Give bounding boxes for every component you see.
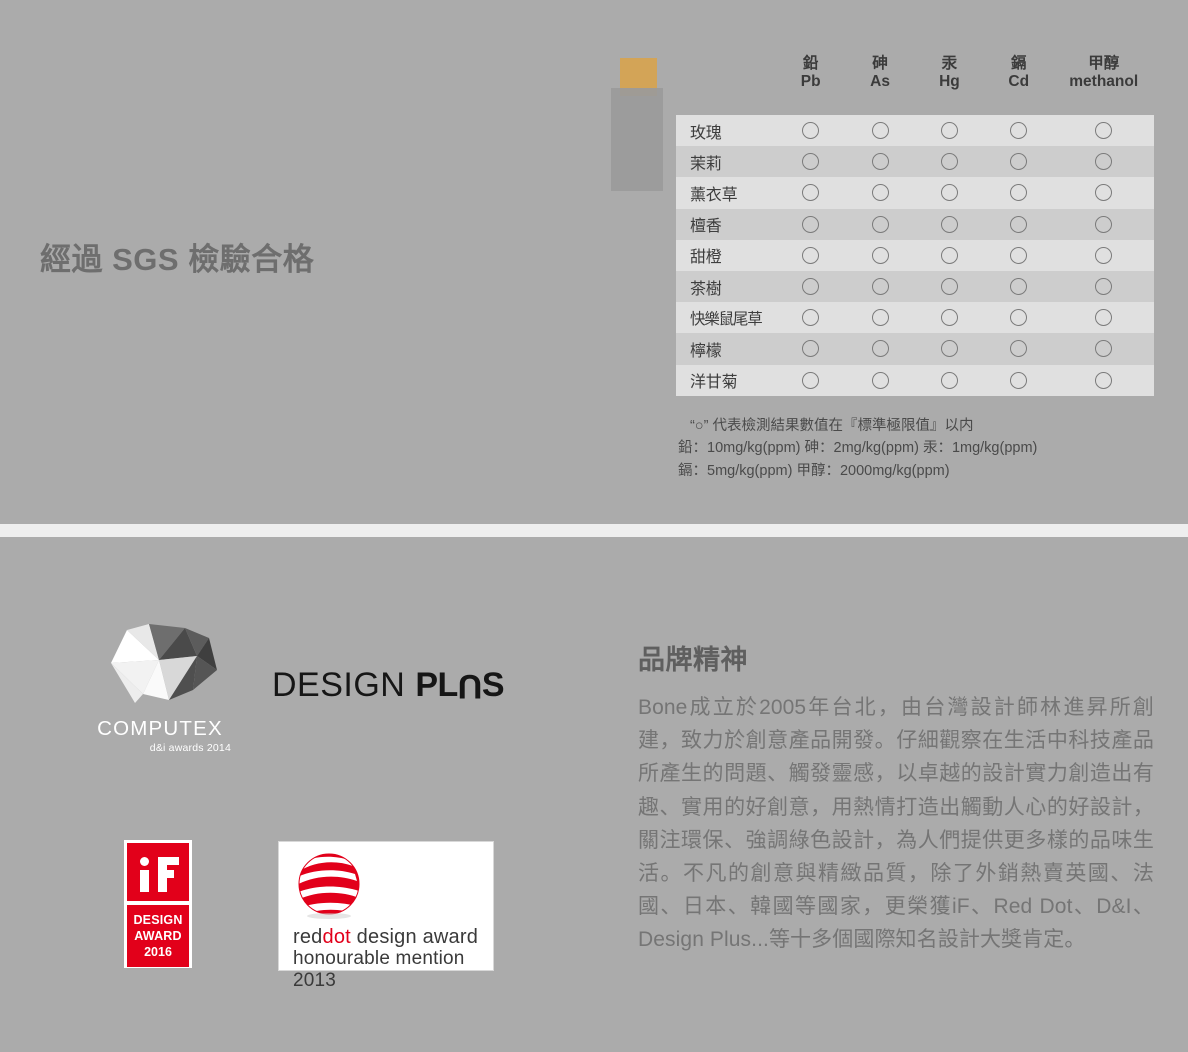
reddot-word-red: red [293, 926, 323, 948]
pass-circle-icon [1010, 309, 1027, 326]
brand-spirit-title: 品牌精神 [638, 638, 1154, 677]
if-design-award-badge: DESIGN AWARD 2016 [124, 840, 192, 968]
reddot-sphere-icon [297, 852, 361, 920]
table-header-row: 鉛 Pb 砷 As 汞 Hg 鎘 Cd 甲醇 methanol [676, 55, 1154, 115]
column-header-hg-en: Hg [915, 73, 984, 91]
result-cell [845, 216, 914, 233]
result-cell [984, 153, 1053, 170]
table-footnote: “○” 代表檢測結果數值在『標準極限值』以内 鉛：10mg/kg(ppm) 砷：… [678, 415, 1158, 482]
result-cell [845, 247, 914, 264]
if-i-dot [140, 857, 149, 866]
row-label: 茉莉 [676, 150, 776, 174]
brand-spirit-body: Bone成立於2005年台北，由台灣設計師林進昇所創建，致力於創意產品開發。仔細… [638, 691, 1154, 956]
pass-circle-icon [941, 340, 958, 357]
product-bottle-image [611, 58, 663, 191]
column-header-pb-cn: 鉛 [776, 55, 845, 73]
table-row: 檸檬 [676, 333, 1154, 364]
row-label: 茶樹 [676, 275, 776, 299]
column-header-as: 砷 As [845, 55, 914, 92]
column-header-methanol: 甲醇 methanol [1053, 55, 1154, 92]
result-cell [915, 309, 984, 326]
result-cell [915, 278, 984, 295]
pass-circle-icon [1095, 216, 1112, 233]
row-label: 甜橙 [676, 243, 776, 267]
pass-circle-icon [1010, 247, 1027, 264]
result-cell [776, 372, 845, 389]
pass-circle-icon [941, 372, 958, 389]
result-cell [915, 340, 984, 357]
pass-circle-icon [1095, 122, 1112, 139]
result-cell [1053, 372, 1154, 389]
pass-circle-icon [802, 153, 819, 170]
pass-circle-icon [872, 216, 889, 233]
table-row: 檀香 [676, 209, 1154, 240]
pass-circle-icon [802, 278, 819, 295]
result-cell [1053, 184, 1154, 201]
design-plus-logo: DESIGN PLUS [272, 666, 504, 705]
pass-circle-icon [802, 309, 819, 326]
table-row: 玫瑰 [676, 115, 1154, 146]
if-caption-line-2: AWARD [127, 929, 189, 945]
row-label: 洋甘菊 [676, 368, 776, 392]
column-header-cd-cn: 鎘 [984, 55, 1053, 73]
table-row: 茉莉 [676, 146, 1154, 177]
result-cell [776, 153, 845, 170]
pass-circle-icon [872, 247, 889, 264]
result-cell [984, 122, 1053, 139]
reddot-word-design-award: design award [351, 926, 478, 948]
result-cell [1053, 340, 1154, 357]
pass-circle-icon [1095, 372, 1112, 389]
pass-circle-icon [1010, 184, 1027, 201]
result-cell [915, 247, 984, 264]
result-cell [776, 340, 845, 357]
result-cell [1053, 216, 1154, 233]
result-cell [1053, 309, 1154, 326]
result-cell [1053, 247, 1154, 264]
result-cell [915, 184, 984, 201]
column-header-methanol-en: methanol [1053, 73, 1154, 91]
pass-circle-icon [872, 309, 889, 326]
pass-circle-icon [941, 247, 958, 264]
result-cell [776, 247, 845, 264]
row-label: 檸檬 [676, 337, 776, 361]
pass-circle-icon [872, 184, 889, 201]
column-header-cd-en: Cd [984, 73, 1053, 91]
if-award-caption: DESIGN AWARD 2016 [127, 905, 189, 967]
result-cell [915, 153, 984, 170]
result-cell [1053, 153, 1154, 170]
footnote-line-3: 鎘：5mg/kg(ppm) 甲醇：2000mg/kg(ppm) [678, 460, 1158, 482]
pass-circle-icon [802, 372, 819, 389]
pass-circle-icon [1010, 372, 1027, 389]
sgs-heading: 經過 SGS 檢驗合格 [40, 234, 314, 279]
pass-circle-icon [941, 184, 958, 201]
result-cell [845, 153, 914, 170]
reddot-design-award-badge: reddot design award honourable mention 2… [278, 841, 494, 971]
reddot-word-dot: dot [323, 926, 351, 948]
pass-circle-icon [1010, 216, 1027, 233]
pass-circle-icon [941, 122, 958, 139]
pass-circle-icon [802, 184, 819, 201]
pass-circle-icon [1010, 278, 1027, 295]
result-cell [1053, 278, 1154, 295]
column-header-hg-cn: 汞 [915, 55, 984, 73]
design-plus-word-design: DESIGN [272, 666, 405, 704]
result-cell [845, 184, 914, 201]
result-cell [776, 278, 845, 295]
if-caption-year: 2016 [127, 944, 189, 960]
computex-subtitle: d&i awards 2014 [85, 742, 235, 754]
result-cell [984, 278, 1053, 295]
design-plus-word-pl: PL [415, 666, 457, 704]
section-divider [0, 524, 1188, 537]
result-cell [776, 184, 845, 201]
if-f-top-bar [158, 857, 179, 865]
brand-spirit-block: 品牌精神 Bone成立於2005年台北，由台灣設計師林進昇所創建，致力於創意產品… [638, 638, 1154, 956]
result-cell [845, 309, 914, 326]
computex-diamond-icon [85, 608, 235, 716]
column-header-methanol-cn: 甲醇 [1053, 55, 1154, 73]
pass-circle-icon [941, 216, 958, 233]
column-header-as-cn: 砷 [845, 55, 914, 73]
result-cell [984, 247, 1053, 264]
table-row: 洋甘菊 [676, 365, 1154, 396]
pass-circle-icon [941, 153, 958, 170]
reddot-wordmark: reddot design award [293, 926, 478, 949]
footnote-line-1: “○” 代表檢測結果數值在『標準極限值』以内 [678, 415, 1158, 437]
pass-circle-icon [1095, 153, 1112, 170]
result-cell [984, 372, 1053, 389]
computex-wordmark: COMPUTEX [85, 717, 235, 741]
pass-circle-icon [1095, 247, 1112, 264]
result-cell [776, 122, 845, 139]
result-cell [776, 309, 845, 326]
result-cell [845, 372, 914, 389]
column-header-cd: 鎘 Cd [984, 55, 1053, 92]
pass-circle-icon [1010, 153, 1027, 170]
computex-award-logo: COMPUTEX d&i awards 2014 [85, 608, 235, 756]
result-cell [845, 278, 914, 295]
result-cell [776, 216, 845, 233]
pass-circle-icon [1095, 340, 1112, 357]
result-cell [984, 340, 1053, 357]
column-header-pb-en: Pb [776, 73, 845, 91]
pass-circle-icon [941, 278, 958, 295]
result-cell [984, 309, 1053, 326]
pass-circle-icon [802, 247, 819, 264]
table-row: 茶樹 [676, 271, 1154, 302]
table-row: 甜橙 [676, 240, 1154, 271]
sgs-certification-section: 經過 SGS 檢驗合格 鉛 Pb 砷 As 汞 Hg 鎘 Cd [0, 0, 1188, 524]
if-f-mid-bar [158, 870, 174, 878]
result-cell [845, 340, 914, 357]
pass-circle-icon [802, 340, 819, 357]
pass-circle-icon [1010, 340, 1027, 357]
result-cell [845, 122, 914, 139]
result-cell [915, 122, 984, 139]
result-cell [1053, 122, 1154, 139]
column-header-pb: 鉛 Pb [776, 55, 845, 92]
table-row: 薰衣草 [676, 177, 1154, 208]
pass-circle-icon [1095, 309, 1112, 326]
table-row: 快樂鼠尾草 [676, 302, 1154, 333]
if-logo-mark [127, 843, 189, 901]
row-label: 薰衣草 [676, 181, 776, 205]
pass-circle-icon [1095, 184, 1112, 201]
row-label: 快樂鼠尾草 [676, 307, 776, 329]
result-cell [915, 372, 984, 389]
row-label: 檀香 [676, 212, 776, 236]
pass-circle-icon [802, 216, 819, 233]
result-cell [915, 216, 984, 233]
reddot-mention-line: honourable mention 2013 [293, 948, 493, 992]
column-header-as-en: As [845, 73, 914, 91]
pass-circle-icon [941, 309, 958, 326]
column-header-hg: 汞 Hg [915, 55, 984, 92]
table-body: 玫瑰茉莉薰衣草檀香甜橙茶樹快樂鼠尾草檸檬洋甘菊 [676, 115, 1154, 396]
pass-circle-icon [872, 340, 889, 357]
pass-circle-icon [872, 153, 889, 170]
pass-circle-icon [802, 122, 819, 139]
if-i-stem [140, 870, 149, 892]
pass-circle-icon [872, 278, 889, 295]
result-cell [984, 216, 1053, 233]
pass-circle-icon [872, 122, 889, 139]
pass-circle-icon [1010, 122, 1027, 139]
bottle-body [611, 88, 663, 191]
row-label: 玫瑰 [676, 119, 776, 143]
if-caption-line-1: DESIGN [127, 913, 189, 929]
pass-circle-icon [1095, 278, 1112, 295]
result-cell [984, 184, 1053, 201]
pass-circle-icon [872, 372, 889, 389]
heavy-metal-test-table: 鉛 Pb 砷 As 汞 Hg 鎘 Cd 甲醇 methanol 玫瑰茉莉薰衣草檀… [676, 55, 1154, 396]
footnote-line-2: 鉛：10mg/kg(ppm) 砷：2mg/kg(ppm) 汞：1mg/kg(pp… [678, 437, 1158, 459]
design-plus-word-s: S [482, 666, 504, 704]
design-plus-word-u: U [458, 666, 482, 705]
